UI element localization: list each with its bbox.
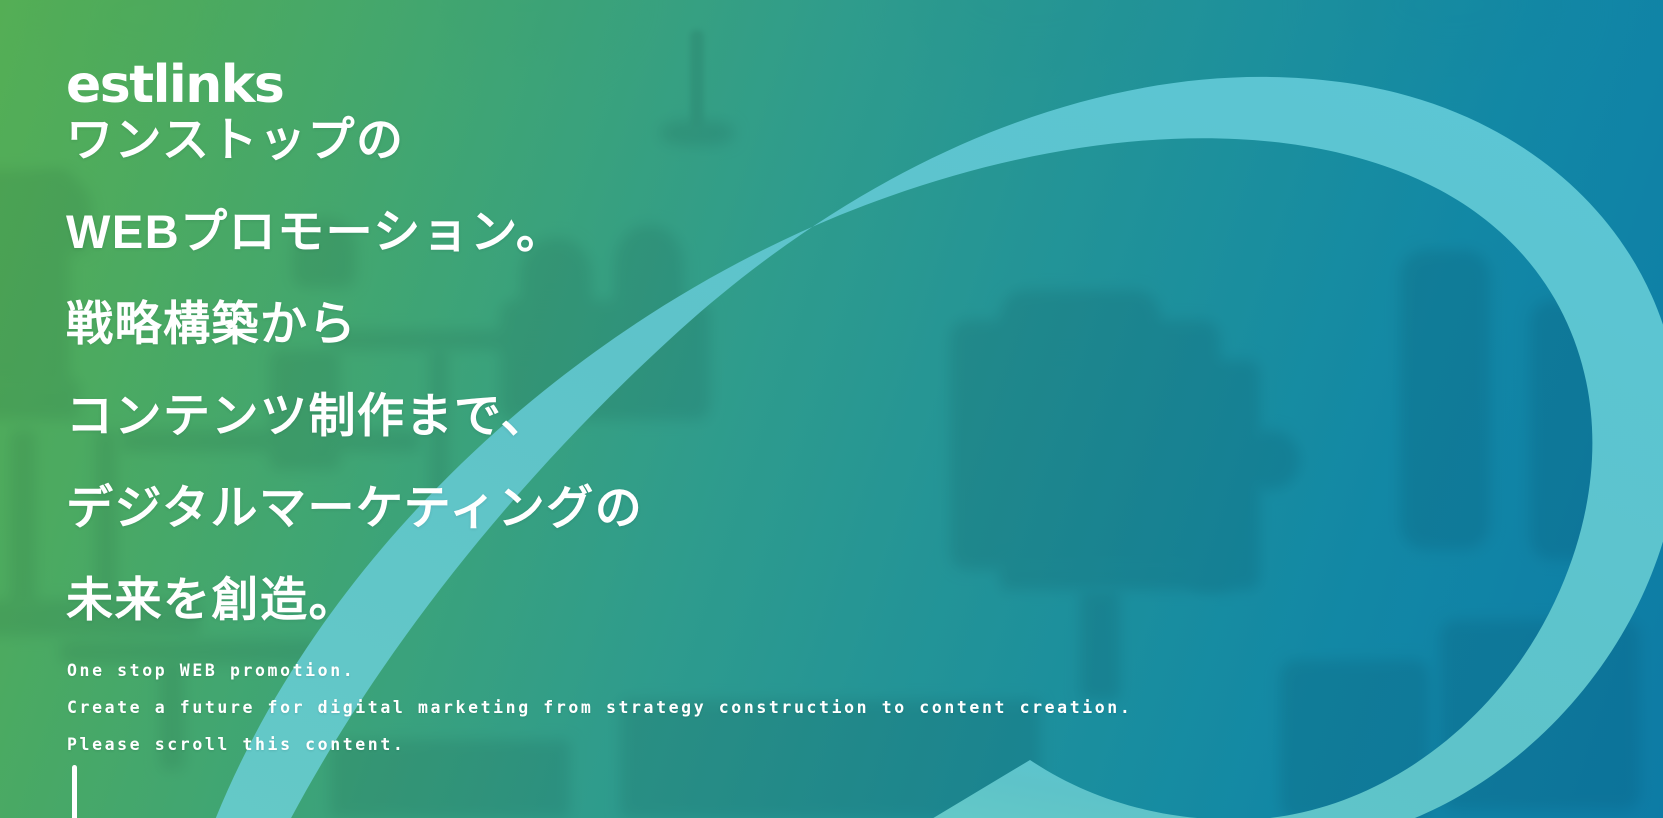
hero-subcopy: One stop WEB promotion. Create a future … xyxy=(67,652,1132,763)
hero-section: estlinks ワンストップの WEBプロモーション。 戦略構築から コンテン… xyxy=(0,0,1663,818)
headline-line: デジタルマーケティングの xyxy=(66,462,643,554)
subcopy-line: One stop WEB promotion. xyxy=(67,652,1132,689)
subcopy-line: Create a future for digital marketing fr… xyxy=(67,689,1132,726)
scroll-indicator-bar[interactable] xyxy=(72,765,77,818)
subcopy-line: Please scroll this content. xyxy=(67,726,1132,763)
headline-line: ワンストップの xyxy=(66,94,643,186)
headline-line: 戦略構築から xyxy=(66,278,643,370)
headline-line: 未来を創造。 xyxy=(66,554,643,646)
headline-line: コンテンツ制作まで、 xyxy=(66,370,643,462)
hero-headline: ワンストップの WEBプロモーション。 戦略構築から コンテンツ制作まで、 デジ… xyxy=(66,94,643,646)
headline-line: WEBプロモーション。 xyxy=(66,186,643,278)
